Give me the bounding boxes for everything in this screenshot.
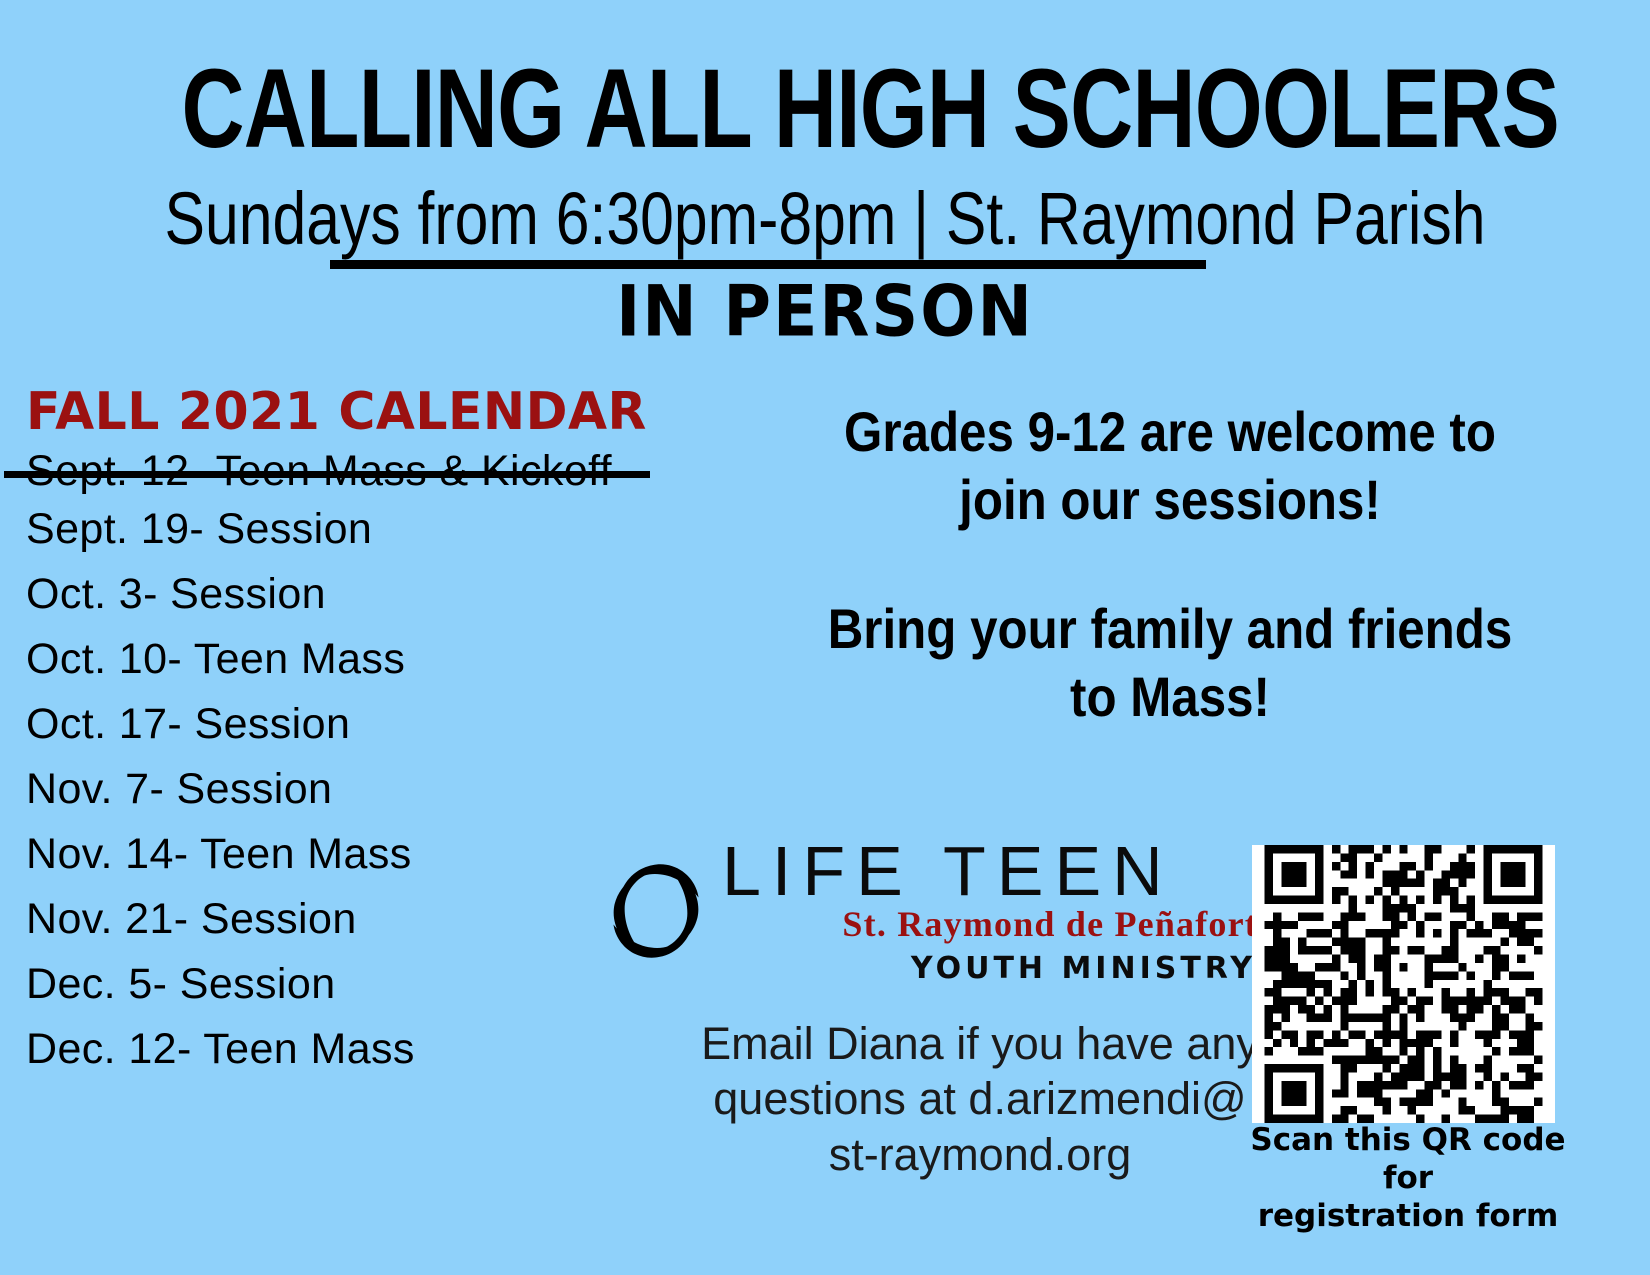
calendar-item-label: Dec. 5- Session: [26, 960, 336, 1008]
contact-line-2: questions at d.arizmendi@: [700, 1071, 1260, 1126]
logo-ministry-label: YOUTH MINISTRY: [722, 951, 1260, 986]
contact-line-1: Email Diana if you have any: [700, 1016, 1260, 1071]
qr-code-icon[interactable]: [1252, 845, 1555, 1123]
calendar-heading: FALL 2021 CALENDAR: [26, 382, 705, 442]
calendar-item-label: Nov. 21- Session: [26, 895, 357, 943]
calendar-item-strikethrough: [4, 471, 650, 478]
calendar-item-label: Nov. 7- Session: [26, 765, 332, 813]
calendar-item: Nov. 7- Session: [26, 757, 726, 822]
logo-wordmark: LIFE TEEN: [722, 838, 1260, 905]
calendar-item-label: Nov. 14- Teen Mass: [26, 830, 412, 878]
calendar-item-label: Oct. 10- Teen Mass: [26, 635, 405, 683]
qr-caption-line-2: registration form: [1228, 1198, 1588, 1236]
qr-caption: Scan this QR code for registration form: [1228, 1122, 1588, 1235]
promo-bring-family: Bring your family and friends to Mass!: [809, 595, 1531, 732]
calendar-item: Oct. 3- Session: [26, 562, 726, 627]
calendar-list: Sept. 12- Teen Mass & KickoffSept. 19- S…: [26, 446, 726, 1082]
header-block: CALLING ALL HIGH SCHOOLERS Sundays from …: [0, 0, 1650, 258]
calendar-item-label: Dec. 12- Teen Mass: [26, 1025, 415, 1073]
life-teen-logo: LIFE TEEN St. Raymond de Peñafort YOUTH …: [600, 836, 1260, 986]
contact-block: Email Diana if you have any questions at…: [700, 1016, 1260, 1182]
qr-code-panel[interactable]: [1252, 845, 1555, 1123]
header-subtitle: Sundays from 6:30pm-8pm | St. Raymond Pa…: [149, 166, 1502, 258]
calendar-item-label: Oct. 3- Session: [26, 570, 326, 618]
page-title: CALLING ALL HIGH SCHOOLERS: [182, 0, 1469, 166]
poster-canvas: CALLING ALL HIGH SCHOOLERS Sundays from …: [0, 0, 1650, 1275]
header-divider-rule: [330, 260, 1206, 269]
calendar-item-label: Sept. 19- Session: [26, 505, 372, 553]
logo-wordmark-group: LIFE TEEN St. Raymond de Peñafort YOUTH …: [722, 836, 1260, 986]
format-banner: IN PERSON: [0, 272, 1650, 353]
life-teen-swirl-icon: [600, 855, 712, 967]
logo-row: LIFE TEEN St. Raymond de Peñafort YOUTH …: [600, 836, 1260, 986]
calendar-item: Oct. 17- Session: [26, 692, 726, 757]
promo-column: Grades 9-12 are welcome to join our sess…: [760, 398, 1580, 731]
calendar-item-label: Oct. 17- Session: [26, 700, 350, 748]
calendar-item: Dec. 12- Teen Mass: [26, 1017, 726, 1082]
calendar-item: Sept. 19- Session: [26, 497, 726, 562]
qr-caption-line-1: Scan this QR code for: [1228, 1122, 1588, 1198]
promo-grades-welcome: Grades 9-12 are welcome to join our sess…: [809, 398, 1531, 535]
contact-line-3: st-raymond.org: [700, 1127, 1260, 1182]
calendar-item: Oct. 10- Teen Mass: [26, 627, 726, 692]
calendar-item: Sept. 12- Teen Mass & Kickoff: [26, 446, 726, 497]
